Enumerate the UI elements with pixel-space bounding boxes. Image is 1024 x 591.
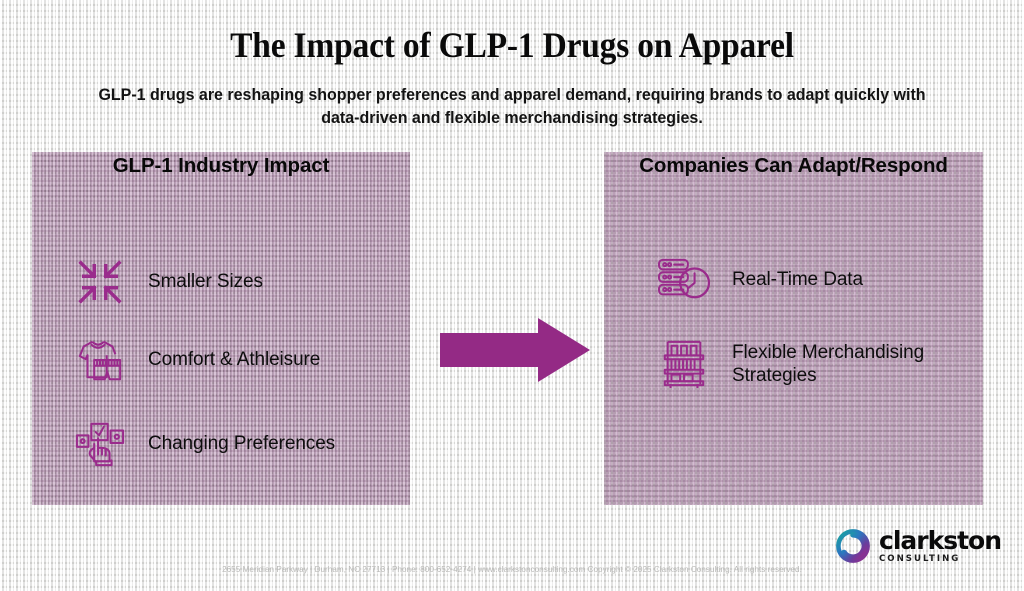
list-item-flexible-merchandising: Flexible Merchandising Strategies [616,334,966,394]
page-subtitle: GLP-1 drugs are reshaping shopper prefer… [95,84,929,131]
list-item-real-time-data: Real-Time Data [616,250,863,310]
tshirt-shorts-icon [70,330,130,390]
list-item-smaller-sizes: Smaller Sizes [32,252,263,312]
hand-checkbox-icon [70,414,130,474]
header: The Impact of GLP-1 Drugs on Apparel GLP… [0,0,1024,131]
server-clock-icon [654,250,714,310]
clarkston-circle-icon [836,529,870,563]
list-item-label: Changing Preferences [148,432,335,455]
panel-right-content: Companies Can Adapt/Respond Real-Time Da… [604,152,983,505]
list-item-label: Comfort & Athleisure [148,348,320,371]
list-item-comfort-athleisure: Comfort & Athleisure [32,330,320,390]
logo-name: clarkston [879,528,1001,553]
logo-wordmark: clarkston CONSULTING [879,528,1001,564]
panel-left-content: GLP-1 Industry Impact Smaller Sizes [32,152,410,505]
list-item-changing-preferences: Changing Preferences [32,414,335,474]
list-item-label: Flexible Merchandising Strategies [732,341,966,387]
list-item-label: Smaller Sizes [148,270,263,293]
page-title: The Impact of GLP-1 Drugs on Apparel [36,24,988,66]
logo-tagline: CONSULTING [879,555,1001,564]
shrink-arrows-icon [70,252,130,312]
list-item-label: Real-Time Data [732,268,863,291]
footer-legal-text: 2655 Meridian Parkway | Durham, NC 27713… [5,565,1019,574]
panel-left-heading: GLP-1 Industry Impact [32,152,410,179]
panel-right-heading: Companies Can Adapt/Respond [604,152,983,179]
right-arrow-icon [440,316,590,384]
clarkston-consulting-logo[interactable]: clarkston CONSULTING [836,528,1001,564]
retail-shelf-icon [654,334,714,394]
